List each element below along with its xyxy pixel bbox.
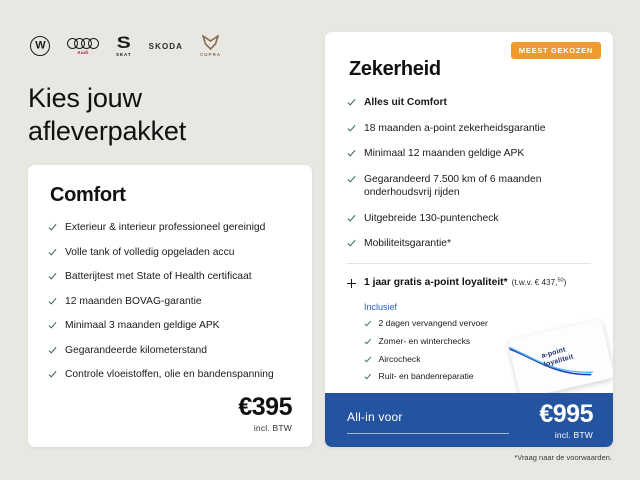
list-item-label: Mobiliteitsgarantie* [364,237,451,251]
audi-logo-icon: Audi [67,38,99,55]
bonus-value-note: (t.w.v. € 437,50) [512,278,567,287]
delivery-package-page: Audi S SEAT SKODA CUPRA Kies jouw afleve… [0,0,640,480]
comfort-price-block: €395 incl. BTW [238,395,292,433]
section-divider [347,263,591,264]
package-card-zekerheid[interactable]: MEEST GEKOZEN Zekerheid Alles uit Comfor… [325,32,613,447]
list-item: Volle tank of volledig opgeladen accu [48,246,292,260]
plus-icon [347,279,356,288]
list-item-label: Ruit- en bandenreparatie [379,371,474,382]
zekerheid-feature-list: Alles uit Comfort 18 maanden a-point zek… [347,96,591,251]
list-item: Alles uit Comfort [347,96,591,110]
list-item: Minimaal 3 maanden geldige APK [48,319,292,333]
list-item: Gegarandeerd 7.500 km of 6 maanden onder… [347,173,591,200]
check-icon [347,149,356,158]
check-icon [48,321,57,330]
included-title: Inclusief [364,302,613,312]
list-item-label: 2 dagen vervangend vervoer [379,318,488,329]
zekerheid-price: €995 [539,402,593,427]
zekerheid-price-block: €995 incl. BTW [539,402,593,440]
list-item: Exterieur & interieur professioneel gere… [48,221,292,235]
package-card-comfort[interactable]: Comfort Exterieur & interieur profession… [28,165,312,447]
list-item-label: Volle tank of volledig opgeladen accu [65,246,234,260]
check-icon [364,320,372,328]
list-item-label: Gegarandeerd 7.500 km of 6 maanden onder… [364,173,591,200]
check-icon [347,175,356,184]
price-underline [347,433,509,434]
bonus-label: 1 jaar gratis a-point loyaliteit*(t.w.v.… [364,277,566,288]
check-icon [347,98,356,107]
brand-logo-row: Audi S SEAT SKODA CUPRA [30,33,221,59]
disclaimer-text: *Vraag naar de voorwaarden. [514,453,612,462]
check-icon [48,370,57,379]
list-item-label: Minimaal 3 maanden geldige APK [65,319,220,333]
skoda-logo-icon: SKODA [149,42,183,51]
check-icon [364,373,372,381]
list-item: Gegarandeerde kilometerstand [48,344,292,358]
skoda-logo-label: SKODA [149,42,183,51]
list-item-label: Alles uit Comfort [364,96,447,110]
check-icon [48,248,57,257]
check-icon [364,337,372,345]
comfort-title: Comfort [50,184,312,207]
list-item-label: Zomer- en winterchecks [379,336,471,347]
check-icon [347,239,356,248]
list-item: Minimaal 12 maanden geldige APK [347,147,591,161]
seat-logo-icon: S SEAT [116,35,132,56]
check-icon [48,223,57,232]
check-icon [48,272,57,281]
status-badge: MEEST GEKOZEN [511,42,601,59]
zekerheid-price-bar: All-in voor €995 incl. BTW [325,393,613,447]
check-icon [347,214,356,223]
check-icon [48,297,57,306]
comfort-price-note: incl. BTW [238,423,292,433]
list-item-label: Aircocheck [379,354,421,365]
page-title: Kies jouw afleverpakket [28,82,288,148]
list-item-label: Minimaal 12 maanden geldige APK [364,147,524,161]
comfort-price: €395 [238,395,292,420]
zekerheid-title: Zekerheid [349,58,613,81]
list-item: 18 maanden a-point zekerheidsgarantie [347,122,591,136]
allin-label: All-in voor [347,410,403,424]
list-item-label: 18 maanden a-point zekerheidsgarantie [364,122,545,136]
list-item-label: Gegarandeerde kilometerstand [65,344,207,358]
list-item-label: Controle vloeistoffen, olie en bandenspa… [65,368,274,382]
audi-logo-label: Audi [77,50,89,55]
cupra-logo-label: CUPRA [200,52,221,57]
list-item: Uitgebreide 130-puntencheck [347,212,591,226]
list-item-label: Batterijtest met State of Health certifi… [65,270,252,284]
cupra-logo-icon: CUPRA [200,35,221,57]
list-item-label: 12 maanden BOVAG-garantie [65,295,202,309]
zekerheid-price-note: incl. BTW [539,430,593,440]
list-item-label: Exterieur & interieur professioneel gere… [65,221,265,235]
list-item-label: Uitgebreide 130-puntencheck [364,212,499,226]
check-icon [364,355,372,363]
bonus-row: 1 jaar gratis a-point loyaliteit*(t.w.v.… [347,277,593,288]
list-item: 12 maanden BOVAG-garantie [48,295,292,309]
check-icon [347,124,356,133]
check-icon [48,346,57,355]
list-item: Batterijtest met State of Health certifi… [48,270,292,284]
comfort-feature-list: Exterieur & interieur professioneel gere… [48,221,292,382]
list-item: Mobiliteitsgarantie* [347,237,591,251]
volkswagen-logo-icon [30,36,50,56]
list-item: Controle vloeistoffen, olie en bandenspa… [48,368,292,382]
